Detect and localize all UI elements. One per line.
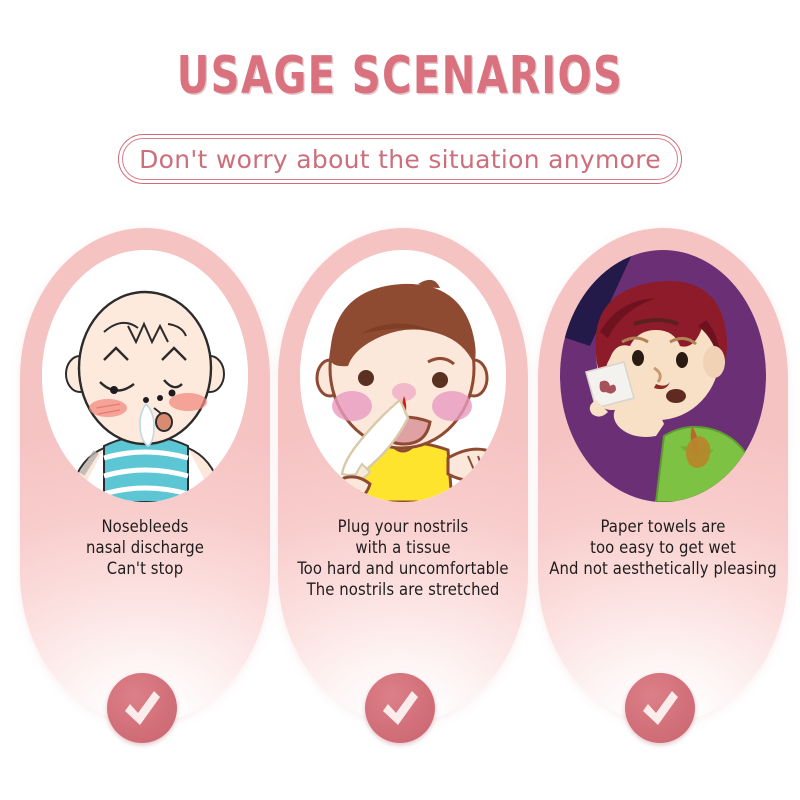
scenario-card-2[interactable]: Plug your nostrils with a tissue Too har… xyxy=(278,228,528,723)
check-icon xyxy=(107,673,177,743)
caption-line: Can't stop xyxy=(14,558,276,579)
illustration-child-with-nasal-discharge xyxy=(42,250,248,502)
cards-row: Nosebleeds nasal discharge Can't stop xyxy=(0,228,800,748)
check-badge-2[interactable] xyxy=(365,673,435,743)
caption-line: nasal discharge xyxy=(14,537,276,558)
caption-line: Too hard and uncomfortable xyxy=(272,558,534,579)
scenario-card-1[interactable]: Nosebleeds nasal discharge Can't stop xyxy=(20,228,270,723)
caption-line: The nostrils are stretched xyxy=(272,579,534,600)
caption-line: Nosebleeds xyxy=(14,516,276,537)
illustration-boy-plugging-nostril-with-tissue xyxy=(300,250,506,502)
check-icon xyxy=(625,673,695,743)
caption-line: Plug your nostrils xyxy=(272,516,534,537)
card-3-caption: Paper towels are too easy to get wet And… xyxy=(532,516,794,579)
scenario-card-3[interactable]: Paper towels are too easy to get wet And… xyxy=(538,228,788,723)
illustration-boy-holding-wet-paper-towel xyxy=(560,250,766,502)
card-1-caption: Nosebleeds nasal discharge Can't stop xyxy=(14,516,276,579)
check-icon xyxy=(365,673,435,743)
caption-line: Paper towels are xyxy=(532,516,794,537)
page-title: USAGE SCENARIOS xyxy=(56,46,744,106)
caption-line: with a tissue xyxy=(272,537,534,558)
caption-line: too easy to get wet xyxy=(532,537,794,558)
usage-scenarios-page: USAGE SCENARIOS Don't worry about the si… xyxy=(0,0,800,800)
subtitle-text: Don't worry about the situation anymore xyxy=(119,135,681,183)
card-2-caption: Plug your nostrils with a tissue Too har… xyxy=(272,516,534,600)
check-badge-3[interactable] xyxy=(625,673,695,743)
check-badge-1[interactable] xyxy=(107,673,177,743)
subtitle-banner: Don't worry about the situation anymore xyxy=(118,134,682,184)
caption-line: And not aesthetically pleasing xyxy=(532,558,794,579)
